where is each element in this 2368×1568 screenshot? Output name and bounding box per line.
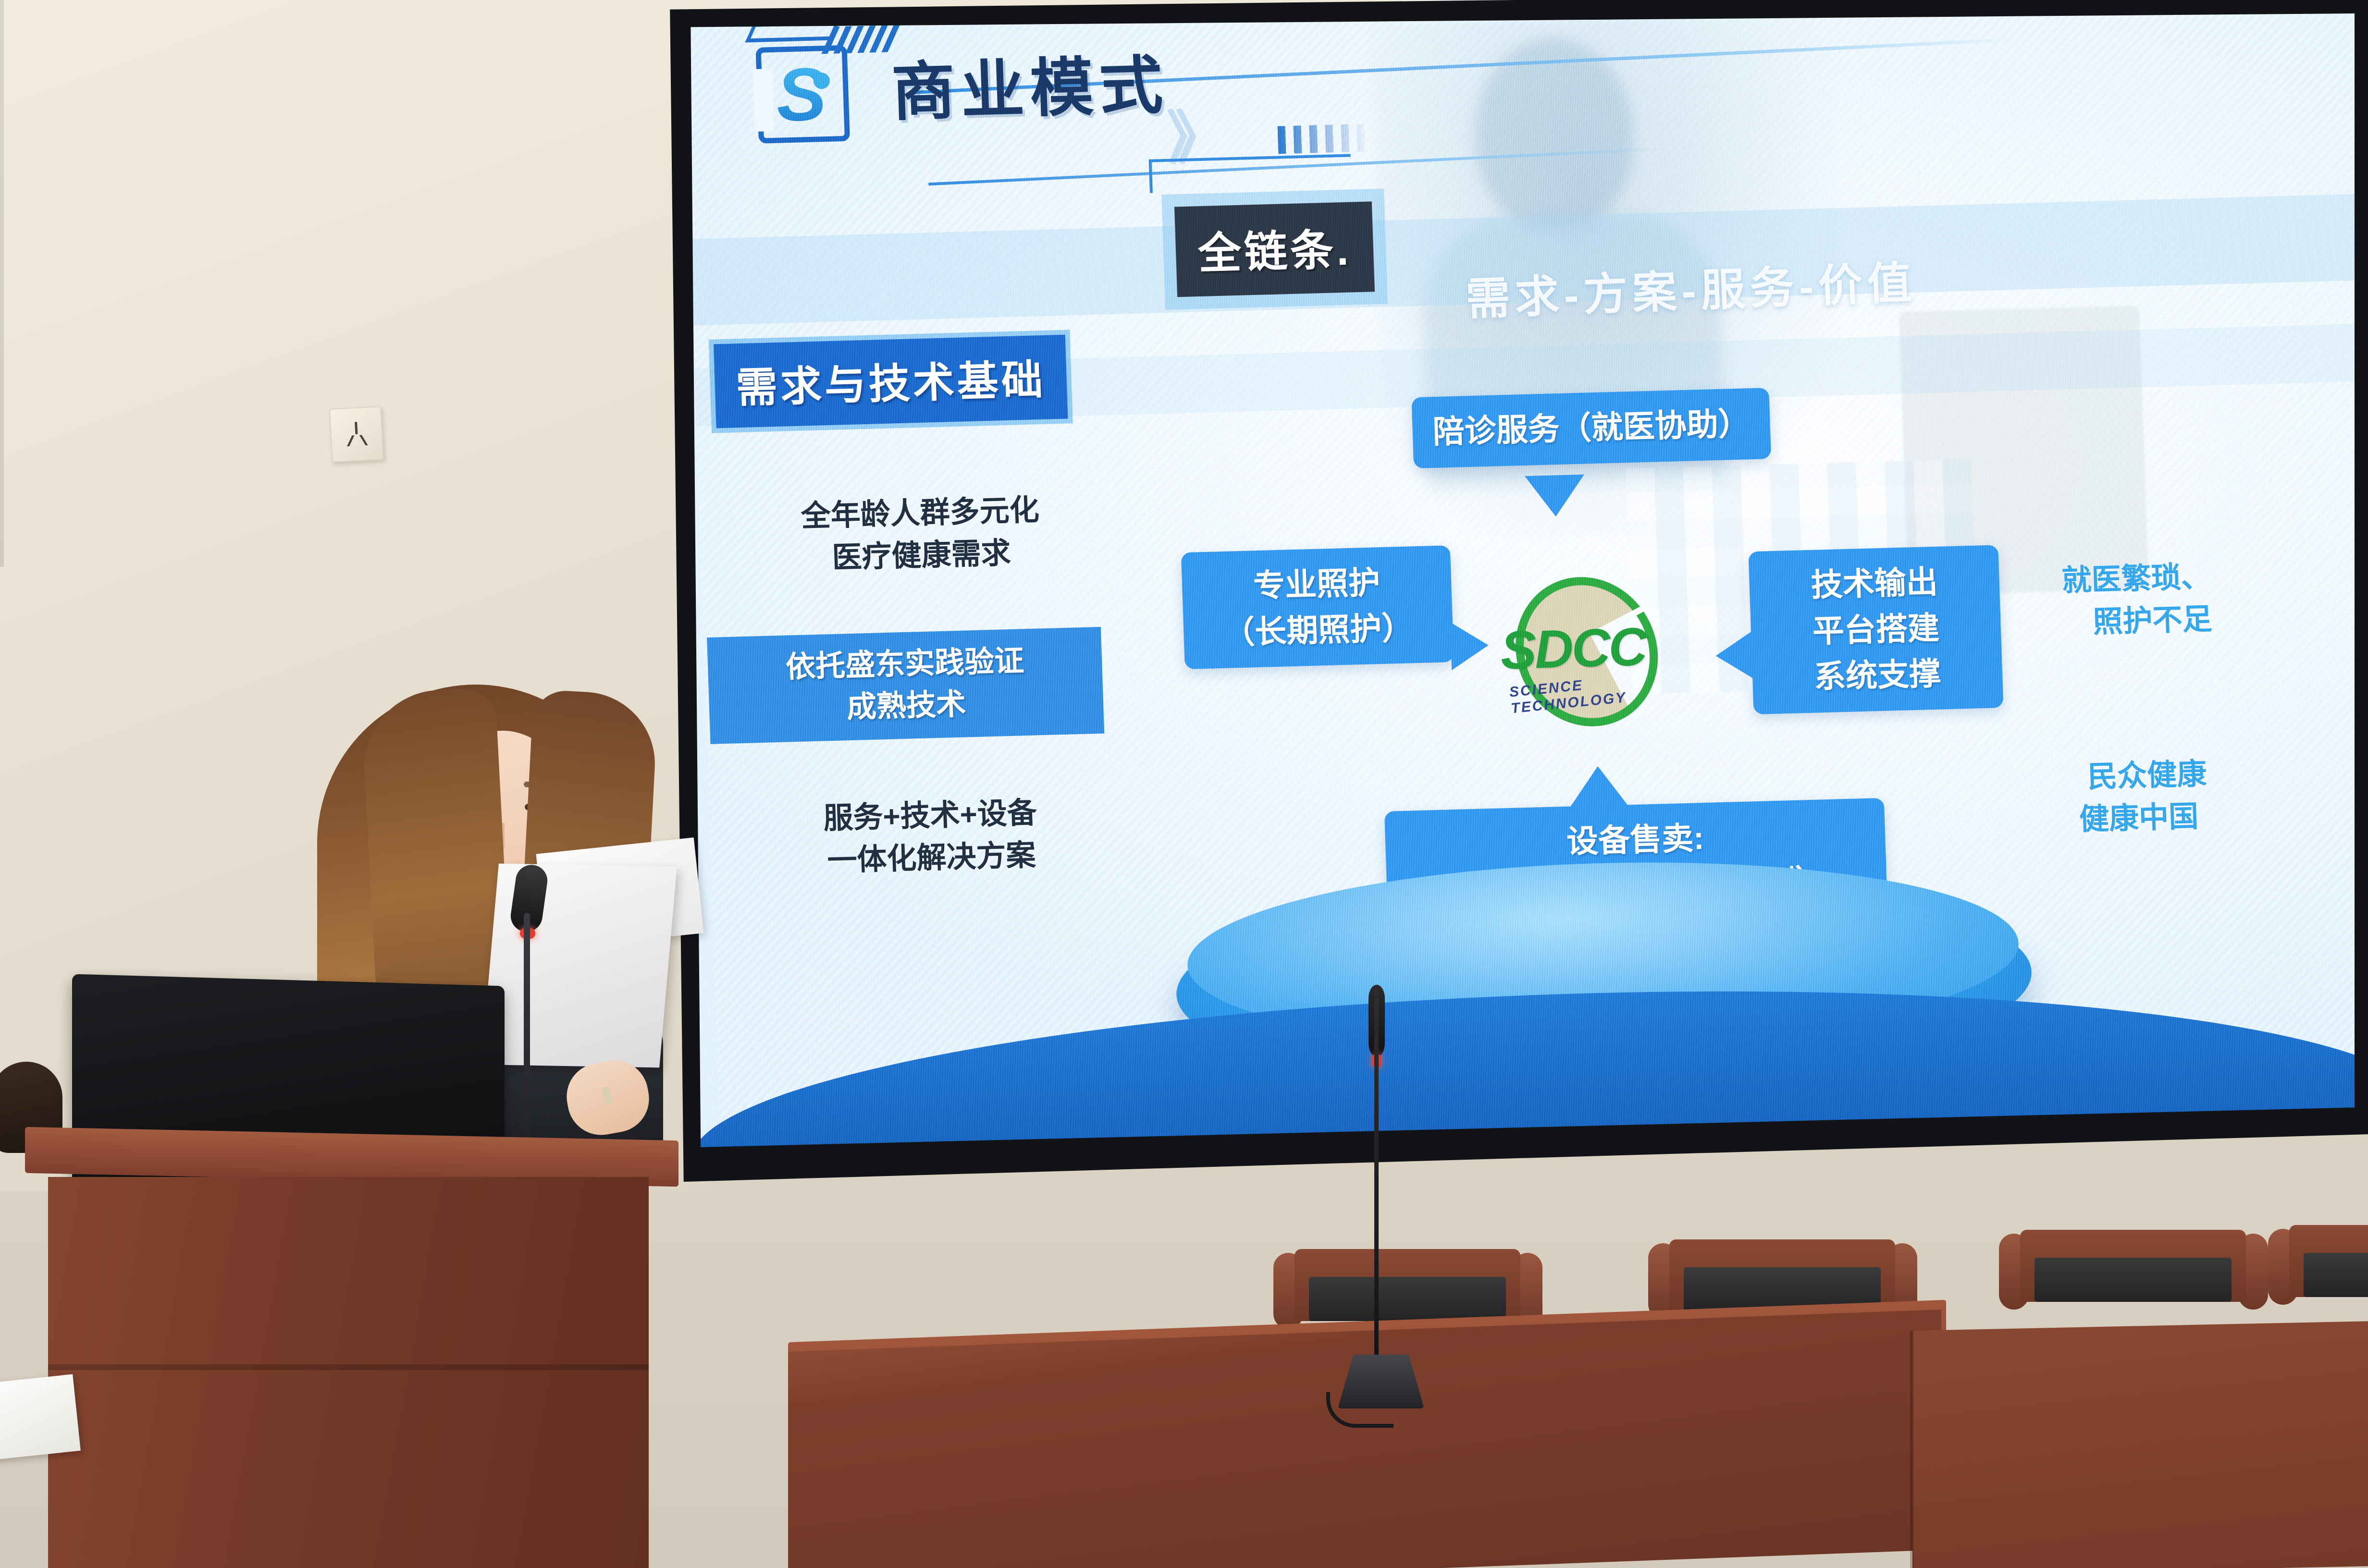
bubble-care-line1: 专业照护 xyxy=(1202,558,1432,611)
tick-bars-icon xyxy=(1277,123,1369,154)
annotation-2-line1: 民众健康 xyxy=(2087,753,2208,799)
brand-letter: S xyxy=(775,58,827,132)
section-banner-demand-tech: 需求与技术基础 xyxy=(714,335,1068,429)
loose-paper xyxy=(0,1374,81,1460)
chair-3 xyxy=(1999,1230,2268,1335)
annotation-2-line2: 健康中国 xyxy=(2069,796,2209,842)
brand-logo-icon: S xyxy=(755,45,850,144)
table-seam xyxy=(1910,1331,1913,1568)
annotation-1-line1: 就医繁琐、 xyxy=(2061,556,2211,602)
conference-table-right xyxy=(1912,1321,2368,1568)
bubble-tail-bottom xyxy=(1568,765,1629,808)
bubble-care-line2: （长期照护） xyxy=(1203,604,1433,657)
wall-corner-edge xyxy=(0,0,4,567)
mic-stem xyxy=(1374,990,1379,1360)
sdcc-logo: SDCC SCIENCE TECHNOLOGY xyxy=(1490,570,1702,734)
bubble-tech-line1: 技术输出 xyxy=(1769,558,1980,609)
bubble-escort-service: 陪诊服务（就医协助） xyxy=(1411,388,1771,468)
annotation-medical-difficulty: 就医繁琐、 照护不足 xyxy=(2061,556,2213,644)
header-hook-line xyxy=(1149,154,1352,193)
chair-4 xyxy=(2268,1225,2368,1331)
sdcc-wordmark: SDCC xyxy=(1500,615,1647,681)
left-box-sengdong: 依托盛东实践验证 成熟技术 xyxy=(707,627,1104,744)
podium xyxy=(48,1177,649,1568)
projection-screen: S 商业模式 》 全链条. 需求-方案-服务-价值 需求与技术基础 全年龄人群多… xyxy=(682,13,2355,1147)
left-note-3: 服务+技术+设备 一体化解决方案 xyxy=(742,790,1120,884)
power-outlet-icon xyxy=(329,406,384,462)
slide-title: 商业模式 xyxy=(890,34,1170,133)
bubble-tech-output: 技术输出 平台搭建 系统支撑 xyxy=(1748,545,2003,714)
conference-room-photo: S 商业模式 》 全链条. 需求-方案-服务-价值 需求与技术基础 全年龄人群多… xyxy=(0,0,2368,1568)
annotation-1-line2: 照护不足 xyxy=(2034,598,2213,645)
bubble-tech-line3: 系统支撑 xyxy=(1772,650,1983,701)
podium-edge xyxy=(48,1364,649,1370)
left-box-line2: 成熟技术 xyxy=(728,681,1085,732)
bubble-tail-left xyxy=(1450,621,1489,670)
bubble-tech-line2: 平台搭建 xyxy=(1770,604,1981,655)
bubble-tail-top xyxy=(1525,475,1586,517)
full-chain-chip: 全链条. xyxy=(1174,201,1375,297)
desk-microphone xyxy=(1317,990,1442,1422)
bubble-tail-right xyxy=(1715,631,1754,680)
bubble-professional-care: 专业照护 （长期照护） xyxy=(1181,545,1454,669)
annotation-healthy-china: 民众健康 健康中国 xyxy=(2087,753,2209,841)
left-note-1: 全年龄人群多元化 医疗健康需求 xyxy=(732,487,1110,582)
presentation-slide: S 商业模式 》 全链条. 需求-方案-服务-价值 需求与技术基础 全年龄人群多… xyxy=(682,13,2355,1147)
